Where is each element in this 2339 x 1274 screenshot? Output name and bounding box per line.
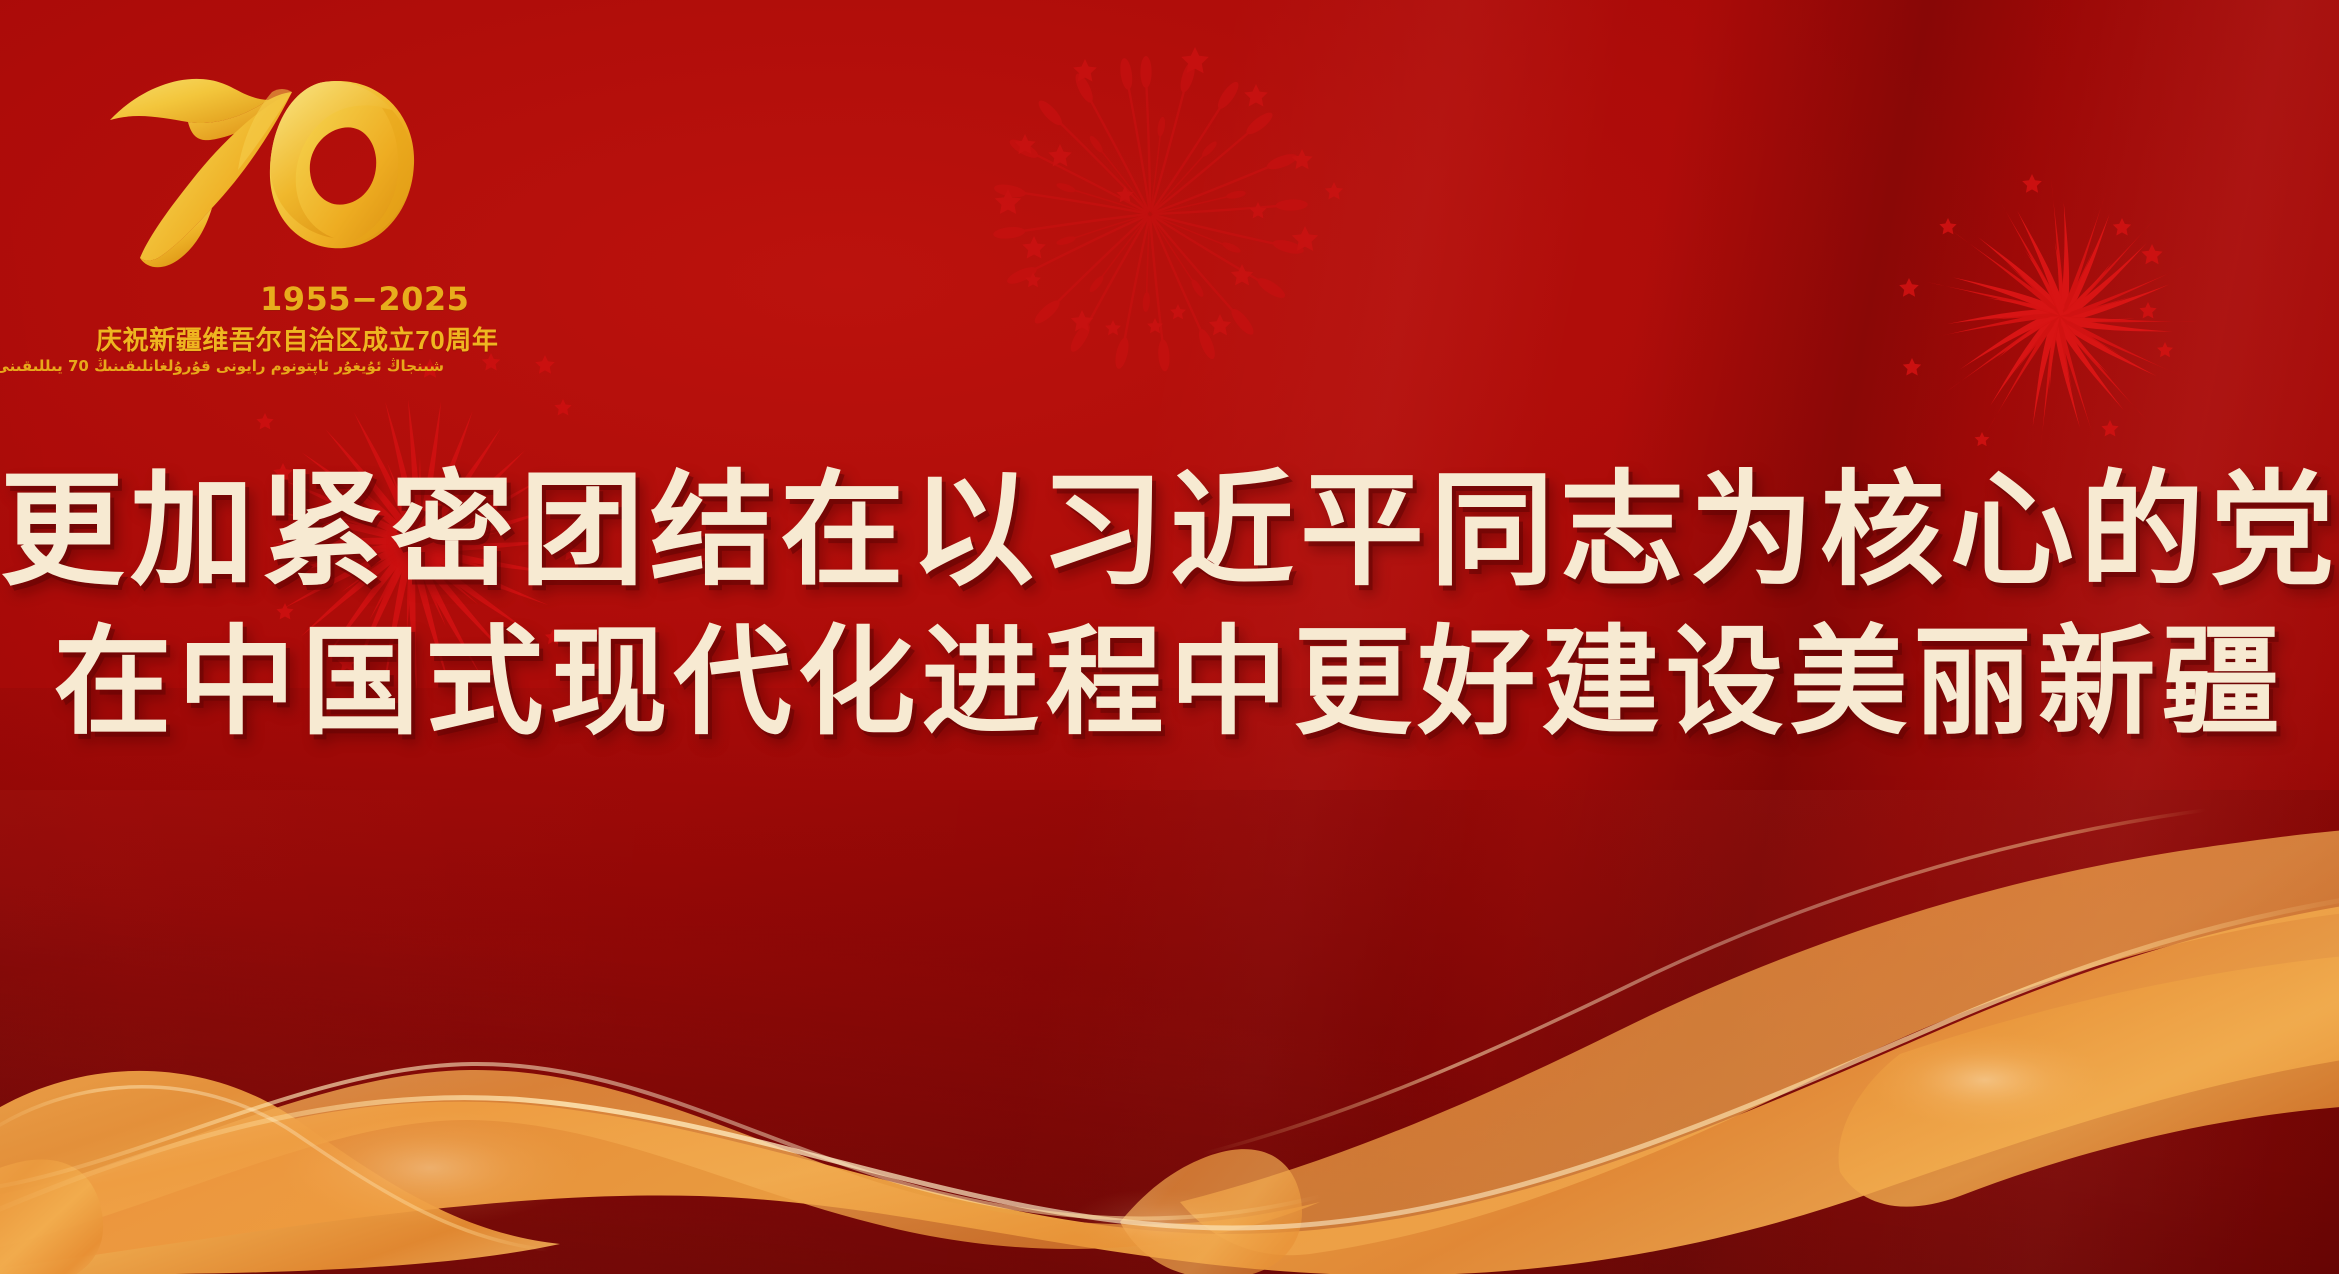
headline-block: 更加紧密团结在以习近平同志为核心的党中央周围 在中国式现代化进程中更好建设美丽新… (0, 462, 2339, 752)
headline-line-1: 更加紧密团结在以习近平同志为核心的党中央周围 (0, 462, 2339, 602)
background-bottom-fold (0, 790, 2339, 1274)
poster-canvas: 1955−2025 庆祝新疆维吾尔自治区成立70周年 شىنجاڭ ئۇيغۇر… (0, 0, 2339, 1274)
headline-line-2: 在中国式现代化进程中更好建设美丽新疆 (0, 616, 2339, 752)
emblem-years: 1955−2025 (260, 280, 469, 318)
emblem-caption-ug: شىنجاڭ ئۇيغۇر ئاپتونوم رايونى قۇرۇلغانلى… (84, 357, 444, 375)
emblem-caption-cn: 庆祝新疆维吾尔自治区成立70周年 (96, 320, 436, 357)
ribbon-70-icon (92, 52, 422, 284)
anniversary-emblem: 1955−2025 庆祝新疆维吾尔自治区成立70周年 شىنجاڭ ئۇيغۇر… (92, 52, 482, 362)
